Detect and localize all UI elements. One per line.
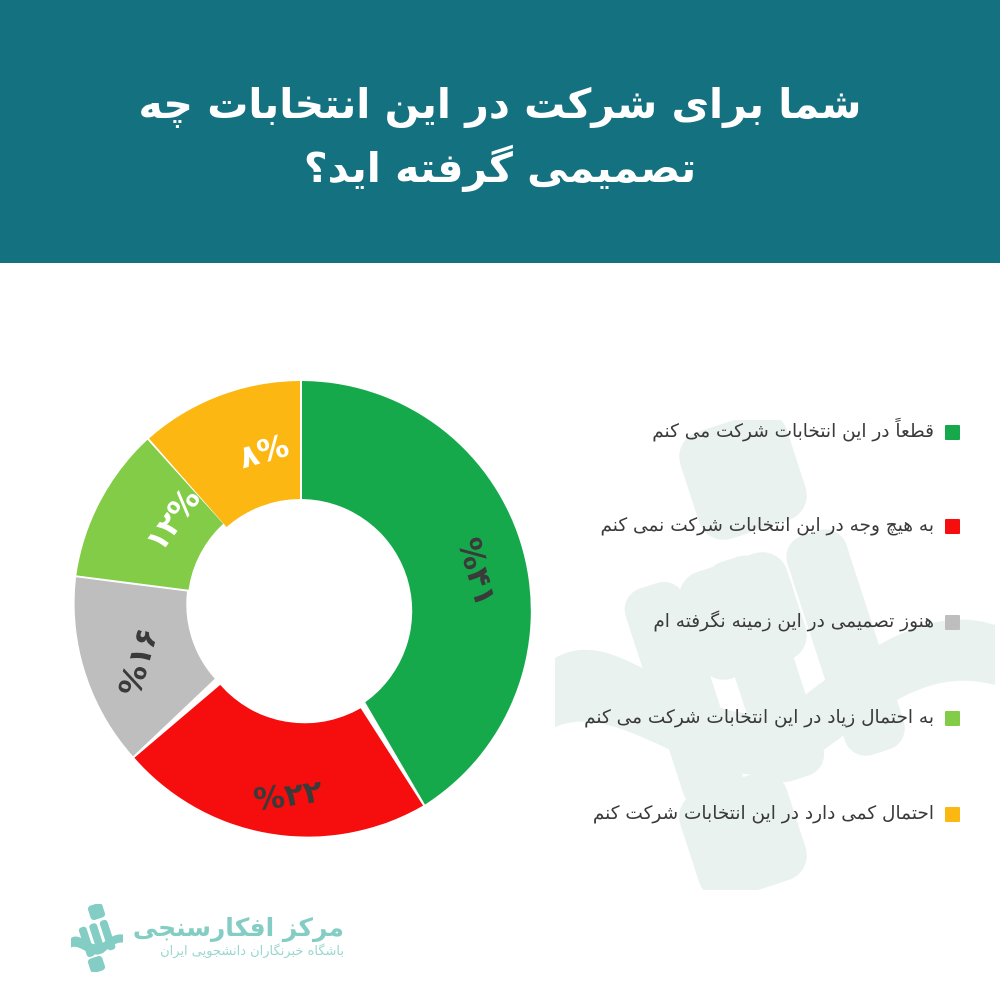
logo-title: مرکز افکارسنجی — [133, 914, 344, 943]
legend-swatch-icon — [945, 519, 960, 534]
legend-swatch-icon — [945, 615, 960, 630]
legend-item-label: هنوز تصمیمی در این زمینه نگرفته ام — [653, 610, 934, 634]
legend-item-definitely-vote[interactable]: قطعاً در این انتخابات شرکت می کنم — [560, 420, 960, 444]
legend-item-unlikely-vote[interactable]: احتمال کمی دارد در این انتخابات شرکت کنم — [560, 802, 960, 826]
infographic-page: شما برای شرکت در این انتخابات چه تصمیمی … — [0, 0, 1000, 1000]
donut-slices — [75, 381, 531, 837]
organization-logo-icon — [71, 904, 123, 972]
footer-logo: مرکز افکارسنجی باشگاه خبرنگاران دانشجویی… — [54, 900, 344, 975]
legend-item-label: قطعاً در این انتخابات شرکت می کنم — [652, 420, 934, 444]
logo-text-block: مرکز افکارسنجی باشگاه خبرنگاران دانشجویی… — [133, 914, 344, 962]
header-band: شما برای شرکت در این انتخابات چه تصمیمی … — [0, 0, 1000, 263]
page-title: شما برای شرکت در این انتخابات چه تصمیمی … — [130, 63, 870, 200]
chart-legend: قطعاً در این انتخابات شرکت می کنم به هیچ… — [560, 398, 960, 848]
legend-swatch-icon — [945, 807, 960, 822]
legend-item-label: به احتمال زیاد در این انتخابات شرکت می ک… — [584, 706, 934, 730]
legend-swatch-icon — [945, 425, 960, 440]
donut-chart: %۴۱ %۲۲ %۱۶ ۱۲% ۸% — [63, 372, 541, 850]
logo-subtitle: باشگاه خبرنگاران دانشجویی ایران — [160, 944, 344, 961]
legend-swatch-icon — [945, 711, 960, 726]
legend-item-undecided[interactable]: هنوز تصمیمی در این زمینه نگرفته ام — [560, 610, 960, 634]
legend-item-label: احتمال کمی دارد در این انتخابات شرکت کنم — [593, 802, 934, 826]
legend-item-likely-vote[interactable]: به احتمال زیاد در این انتخابات شرکت می ک… — [560, 706, 960, 730]
legend-item-label: به هیچ وجه در این انتخابات شرکت نمی کنم — [600, 514, 934, 538]
donut-chart-svg: %۴۱ %۲۲ %۱۶ ۱۲% ۸% — [63, 372, 541, 850]
legend-item-will-not-vote[interactable]: به هیچ وجه در این انتخابات شرکت نمی کنم — [560, 514, 960, 538]
